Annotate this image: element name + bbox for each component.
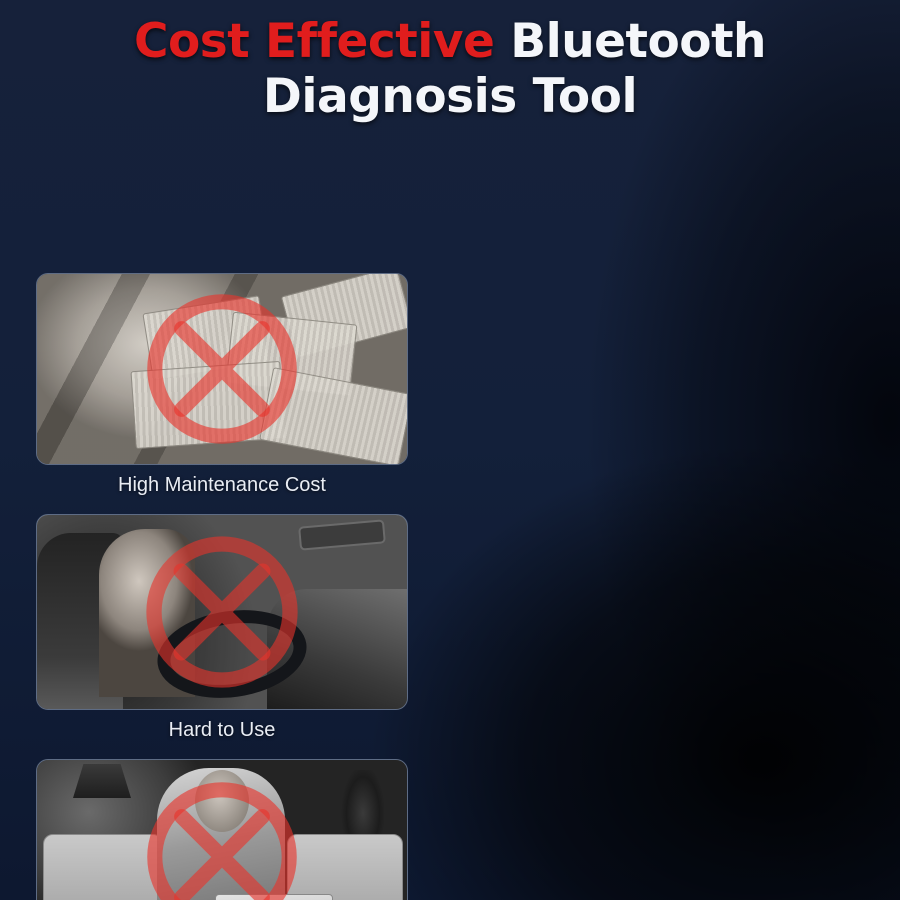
title-highlight: Cost Effective [134,14,494,69]
man-laptop-image [37,760,407,900]
page-title: Cost Effective Bluetooth Diagnosis Tool [0,14,900,124]
money-photo [36,273,408,465]
car-interior-image [37,515,407,709]
pain-point-caption: High Maintenance Cost [36,465,408,500]
product-infographic: Cost Effective Bluetooth Diagnosis Tool … [0,0,900,900]
pain-point-card: Crash Third-Tarty APP Compatibility [36,759,408,900]
pain-point-card: High Maintenance Cost [36,273,408,500]
pain-points-column: High Maintenance Cost Hard to Use [36,273,408,900]
pain-point-card: Hard to Use [36,514,408,745]
title-line1-white: Bluetooth [510,14,766,69]
money-photo-image [37,274,407,464]
title-line-2: Diagnosis Tool [0,69,900,124]
car-interior-photo [36,514,408,710]
man-laptop-photo [36,759,408,900]
title-line-1: Cost Effective Bluetooth [0,14,900,69]
pain-point-caption: Hard to Use [36,710,408,745]
